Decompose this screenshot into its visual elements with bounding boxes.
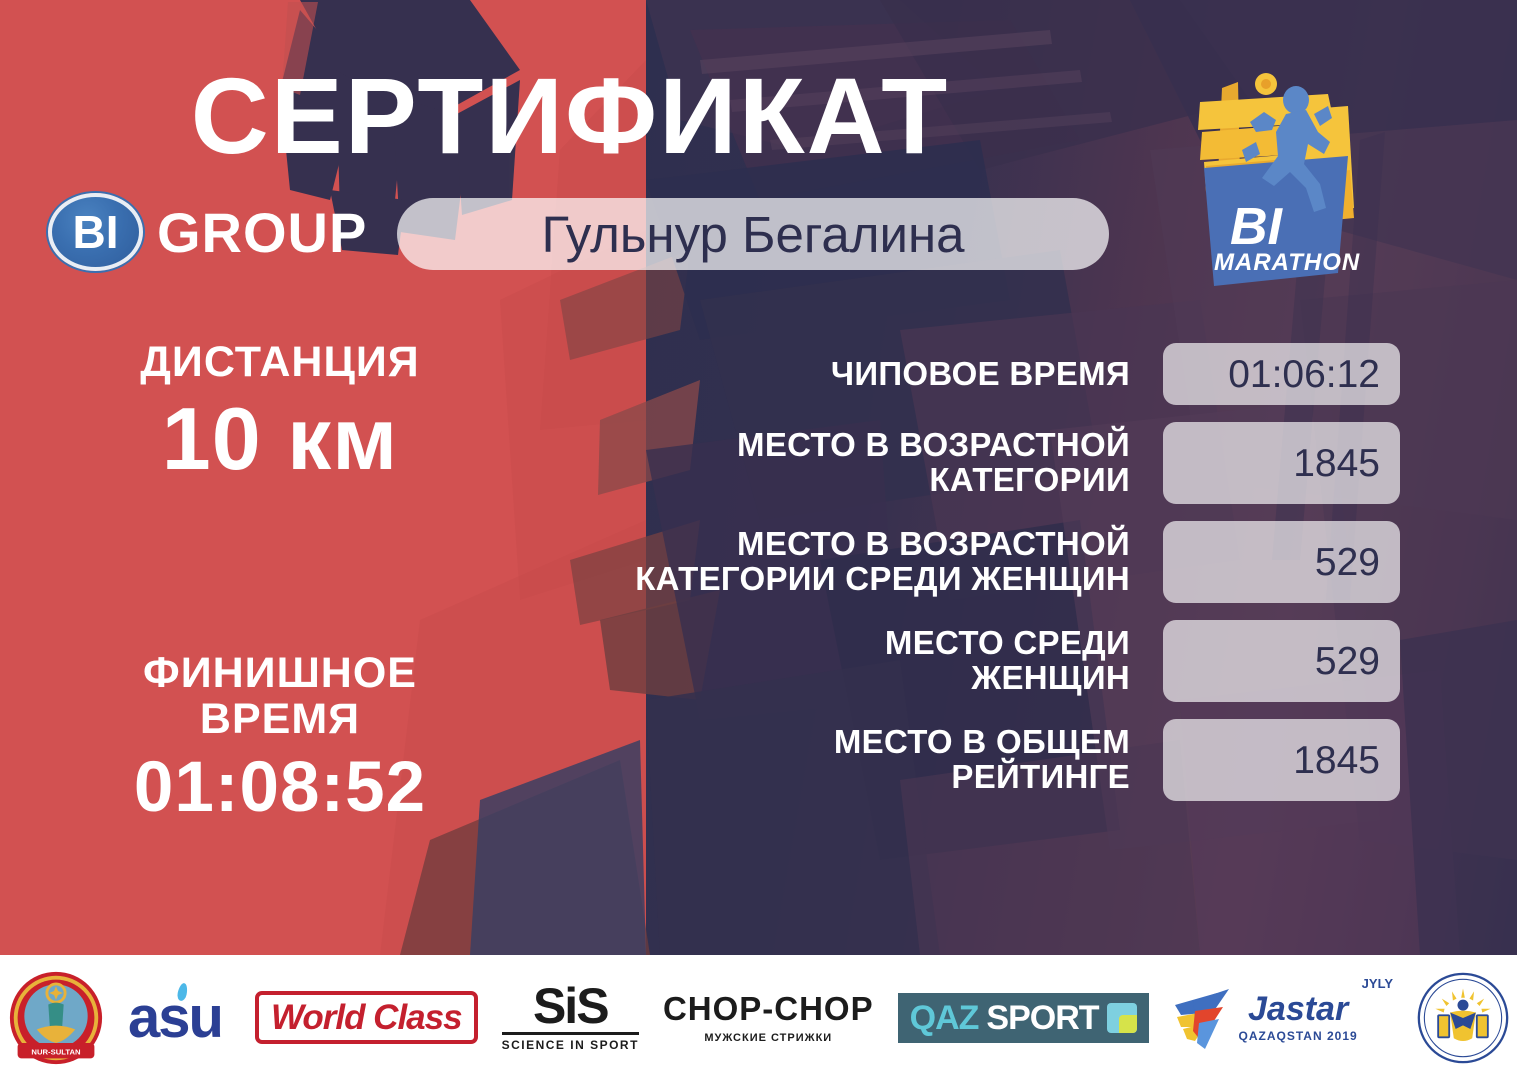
jastar-wordmark: Jastar (1239, 992, 1358, 1026)
distance-value: 10 км (0, 391, 560, 488)
sponsor-jastar: Jastar QAZAQSTAN 2019 JYLY (1173, 970, 1393, 1066)
stat-value: 529 (1163, 521, 1400, 603)
sponsor-nur-sultan-emblem: NUR-SULTAN (8, 970, 104, 1066)
world-class-badge: World Class (255, 991, 478, 1044)
stat-label: МЕСТО В ВОЗРАСТНОЙ КАТЕГОРИИ (500, 428, 1163, 498)
stat-row: МЕСТО В ОБЩЕМ РЕЙТИНГЕ 1845 (500, 719, 1400, 801)
stat-label: МЕСТО В ВОЗРАСТНОЙ КАТЕГОРИИ СРЕДИ ЖЕНЩИ… (500, 527, 1163, 597)
sis-wordmark: SiS (502, 984, 639, 1029)
stats-list: ЧИПОВОЕ ВРЕМЯ 01:06:12 МЕСТО В ВОЗРАСТНО… (500, 343, 1400, 818)
stat-label: МЕСТО В ОБЩЕМ РЕЙТИНГЕ (500, 725, 1163, 795)
jastar-jyly-tag: JYLY (1362, 976, 1393, 991)
sponsor-sis: SiS SCIENCE IN SPORT (502, 970, 639, 1066)
bi-group-logo: BI GROUP (48, 193, 367, 271)
sponsor-qazsport: QAZSPORT (898, 970, 1149, 1066)
sponsor-strip: NUR-SULTAN asu World Class SiS SCIENCE I… (0, 955, 1517, 1080)
distance-block: ДИСТАНЦИЯ 10 км (0, 340, 560, 488)
stat-row: ЧИПОВОЕ ВРЕМЯ 01:06:12 (500, 343, 1400, 405)
jastar-tagline: QAZAQSTAN 2019 (1239, 1029, 1358, 1043)
nur-sultan-emblem-icon: NUR-SULTAN (8, 970, 104, 1066)
sponsor-asu: asu (128, 970, 231, 1066)
qazsport-square-icon (1107, 1003, 1137, 1033)
bi-group-wordmark: GROUP (157, 200, 367, 265)
participant-name-text: Гульнур Бегалина (542, 209, 965, 260)
page-title: СЕРТИФИКАТ (0, 62, 1140, 170)
stat-row: МЕСТО В ВОЗРАСТНОЙ КАТЕГОРИИ СРЕДИ ЖЕНЩИ… (500, 521, 1400, 603)
bi-marathon-line1: BI (1230, 198, 1284, 256)
stat-label: ЧИПОВОЕ ВРЕМЯ (500, 357, 1163, 392)
bi-marathon-logo: BI MARATHON (1178, 58, 1378, 308)
jastar-bird-icon (1173, 983, 1235, 1053)
sponsor-chop-chop: CHOP-CHOP МУЖСКИЕ СТРИЖКИ (663, 970, 874, 1066)
ministry-of-culture-and-sport-emblem-icon (1417, 972, 1509, 1064)
stat-row: МЕСТО СРЕДИ ЖЕНЩИН 529 (500, 620, 1400, 702)
chop-chop-wordmark: CHOP-CHOP (663, 992, 874, 1025)
qazsport-wordmark-sport: SPORT (986, 1001, 1098, 1035)
sponsor-ministry-emblem (1417, 970, 1509, 1066)
nur-sultan-label: NUR-SULTAN (31, 1047, 81, 1056)
asu-wordmark: asu (128, 989, 222, 1047)
certificate-canvas: СЕРТИФИКАТ BI GROUP Гульнур Бегалина (0, 0, 1517, 955)
world-class-wordmark: World Class (271, 1000, 462, 1035)
stat-row: МЕСТО В ВОЗРАСТНОЙ КАТЕГОРИИ 1845 (500, 422, 1400, 504)
stat-value: 1845 (1163, 719, 1400, 801)
bi-marathon-logo-svg: BI MARATHON (1178, 58, 1378, 308)
bi-marathon-line2: MARATHON (1214, 249, 1360, 276)
distance-label: ДИСТАНЦИЯ (0, 340, 560, 385)
finish-time-value: 01:08:52 (0, 747, 560, 829)
sis-tagline: SCIENCE IN SPORT (502, 1032, 639, 1052)
participant-name-field: Гульнур Бегалина (397, 198, 1109, 270)
bi-logo-badge: BI (48, 193, 143, 271)
stat-label: МЕСТО СРЕДИ ЖЕНЩИН (500, 626, 1163, 696)
sponsor-world-class: World Class (255, 970, 478, 1066)
stat-value: 1845 (1163, 422, 1400, 504)
finish-time-block: ФИНИШНОЕ ВРЕМЯ 01:08:52 (0, 650, 560, 829)
finish-time-label: ФИНИШНОЕ ВРЕМЯ (0, 650, 560, 743)
qazsport-wordmark-qaz: QAZ (910, 1001, 979, 1035)
stat-value: 529 (1163, 620, 1400, 702)
chop-chop-tagline: МУЖСКИЕ СТРИЖКИ (663, 1032, 874, 1044)
stat-value: 01:06:12 (1163, 343, 1400, 405)
